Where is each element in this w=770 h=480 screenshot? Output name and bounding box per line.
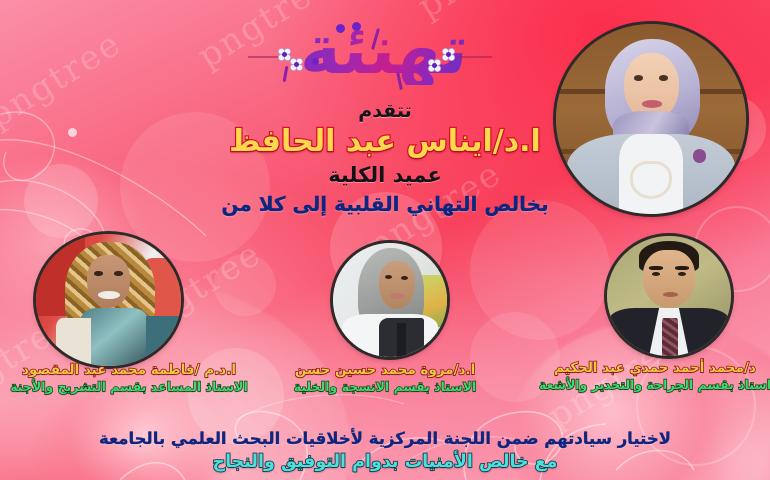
garment [146,316,181,366]
dean-photo [556,24,746,214]
honoree-role: الاستاذ المساعد بقسم التشريح والأجنة [0,379,274,394]
honoree-name: د/محمد أحمد حمدي عبد الحكيم [505,360,770,376]
honoree-role: الاستاذ بقسم الانسجة والخلية [240,379,530,394]
honoree-caption-right: د/محمد أحمد حمدي عبد الحكيم استاذ بقسم ا… [505,360,770,392]
congratulations-poster: pngtree pngtree pngtree pngtree pngtree … [0,0,770,480]
honoree-photo-left [36,234,181,366]
photo-background [36,234,181,366]
wish-line: مع خالص الأمنيات بدوام التوفيق والنجاح [0,452,770,472]
mouth [642,100,663,108]
reason-line: لاختيار سيادتهم ضمن اللجنة المركزية لأخل… [0,429,770,448]
face [643,250,695,308]
bokeh-circle [470,200,610,340]
flower-center [432,63,437,68]
flower-icon [290,58,303,71]
necktie [662,318,678,356]
bokeh-circle [214,254,276,316]
photo-background [607,236,731,356]
eyebrow [649,266,663,270]
ornament-stem [458,56,492,58]
eye [114,271,123,276]
vest-placket [397,323,406,357]
flower-center [446,52,451,57]
honoree-photo-center [333,243,447,357]
flower-icon [428,59,441,72]
honoree-caption-center: ا.د/مروة محمد حسين حسن الاستاذ بقسم الان… [240,362,530,394]
honoree-photo-right [607,236,731,356]
honoree-caption-left: ا.د.م /فاطمة محمد عبد المقصود الاستاذ ال… [0,362,274,394]
photo-background [556,24,746,214]
honoree-name: ا.د.م /فاطمة محمد عبد المقصود [0,362,274,378]
eyebrow [675,266,689,270]
honoree-role: استاذ بقسم الجراحة والتخدير والأشعة [505,377,770,392]
eye [659,75,669,81]
face [379,261,415,309]
face [87,255,131,308]
flower-center [282,52,287,57]
eye [94,271,103,276]
flower-icon [442,48,455,61]
mouth [390,293,405,299]
flower-center [294,62,299,67]
photo-background [333,243,447,357]
honoree-name: ا.د/مروة محمد حسين حسن [240,362,530,378]
lapel-pin [693,149,706,162]
garment [56,318,91,366]
smile [98,291,120,299]
ornament-stem [248,56,278,58]
pearl-necklace [630,161,672,199]
